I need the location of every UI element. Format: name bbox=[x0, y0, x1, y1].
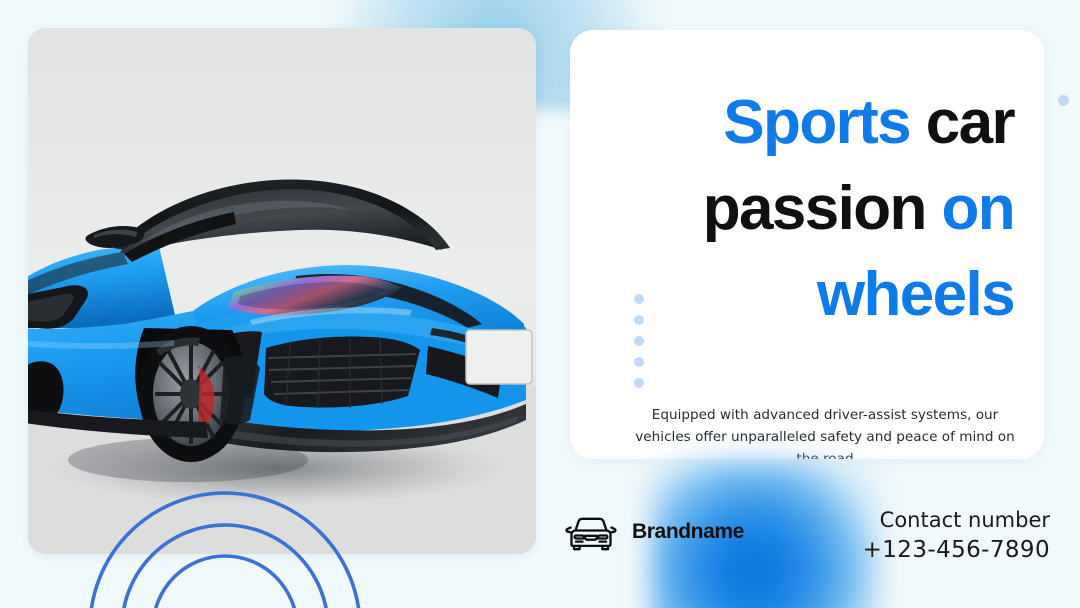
brand-lockup[interactable]: Brandname bbox=[563, 512, 744, 552]
description-text: Equipped with advanced driver-assist sys… bbox=[628, 404, 1022, 459]
car-front-icon bbox=[563, 512, 619, 552]
page-title: Sports car passion on wheels bbox=[604, 80, 1014, 338]
accent-dot-icon bbox=[634, 294, 644, 304]
brand-name-label: Brandname bbox=[632, 520, 744, 544]
headline-word-car: car bbox=[926, 88, 1014, 157]
accent-dot-icon bbox=[634, 336, 644, 346]
accent-dot-icon-right bbox=[1058, 95, 1069, 106]
headline-word-sports: Sports bbox=[723, 88, 910, 157]
poster-canvas: Sports car passion on wheels Equipped wi… bbox=[0, 0, 1080, 608]
contact-label: Contact number bbox=[863, 505, 1050, 535]
headline-word-passion: passion bbox=[703, 174, 926, 243]
car-photo-card bbox=[28, 28, 536, 554]
contact-number[interactable]: +123-456-7890 bbox=[863, 535, 1050, 566]
decorative-dot-column bbox=[634, 294, 644, 388]
accent-dot-icon bbox=[634, 378, 644, 388]
accent-dot-icon bbox=[634, 357, 644, 367]
headline-word-wheels: wheels bbox=[817, 260, 1014, 329]
car-photo-image bbox=[28, 28, 536, 554]
headline-word-on: on bbox=[941, 174, 1014, 243]
contact-block: Contact number +123-456-7890 bbox=[863, 505, 1050, 566]
accent-dot-icon bbox=[634, 315, 644, 325]
content-card: Sports car passion on wheels Equipped wi… bbox=[570, 30, 1044, 459]
